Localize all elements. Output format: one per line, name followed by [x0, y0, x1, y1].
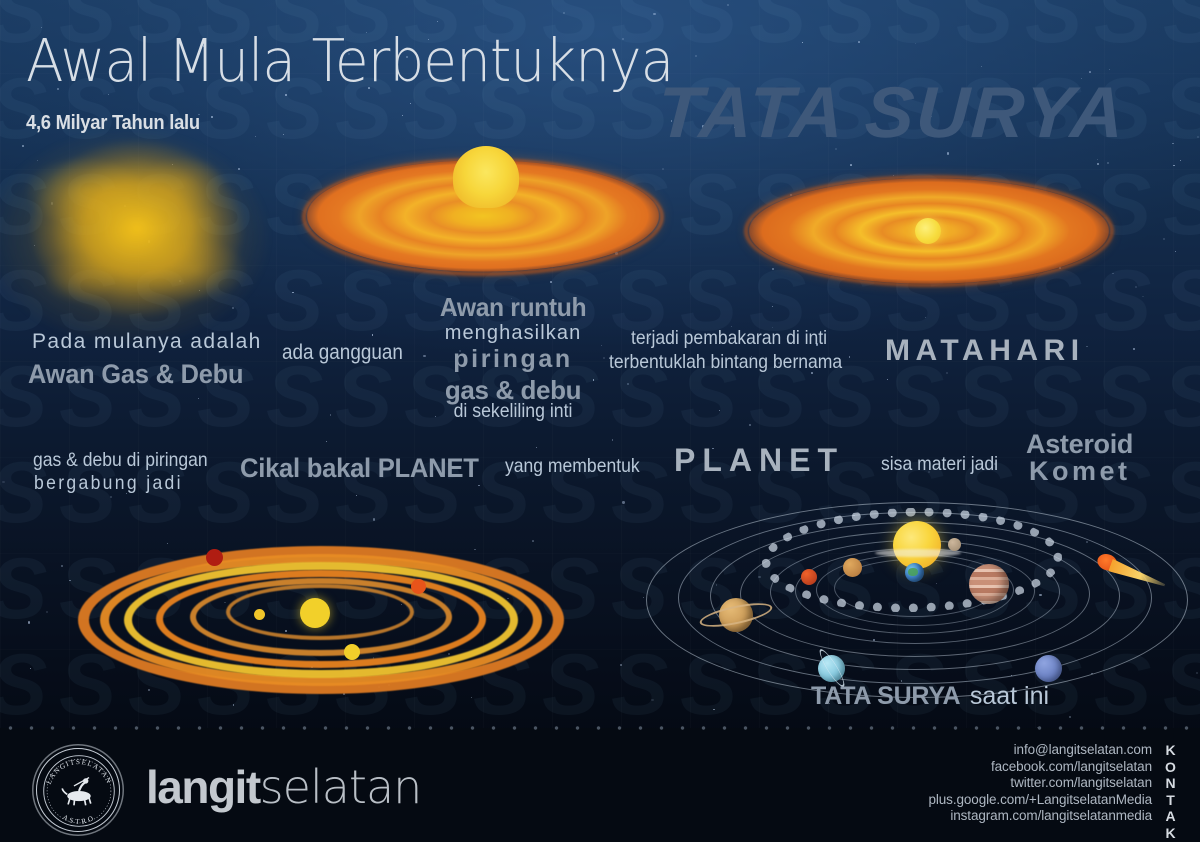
stage3-caption-line2: menghasilkan — [418, 322, 608, 345]
stage7-caption: sisa materi jadi — [881, 453, 998, 476]
protoplanetary-disk-late — [748, 178, 1110, 290]
contact-twitter[interactable]: twitter.com/langitselatan — [928, 775, 1152, 792]
stage4-caption-line2: terbentuklah bintang bernama — [609, 351, 842, 374]
watermark-s-glyph: S — [818, 0, 875, 56]
stage5-caption-line2: bergabung jadi — [34, 472, 183, 495]
star — [915, 43, 916, 44]
gas-cloud-nebula — [0, 118, 282, 348]
watermark-s-glyph: S — [1163, 354, 1200, 440]
star — [1163, 238, 1165, 240]
star — [1086, 346, 1087, 347]
page-title-accent: TATA SURYA — [656, 72, 1128, 154]
stage3-caption-line1: Awan runtuh — [423, 292, 604, 323]
star — [981, 66, 982, 67]
star — [326, 441, 327, 442]
star — [110, 496, 112, 498]
jupiter-body — [969, 564, 1009, 604]
centaur-figure-icon — [62, 778, 91, 806]
watermark-s-glyph: S — [887, 0, 944, 56]
kontak-vertical-label: KONTAK — [1164, 742, 1178, 842]
star — [719, 410, 720, 411]
star — [2, 481, 4, 483]
watermark-s-glyph: S — [0, 642, 47, 728]
page-title: Awal Mula Terbentuknya — [26, 26, 673, 95]
protosun-center — [300, 598, 330, 628]
solar-system-diagram — [640, 498, 1200, 710]
contact-facebook[interactable]: facebook.com/langitselatan — [928, 759, 1152, 776]
young-sun-core — [915, 218, 941, 244]
star — [28, 621, 30, 623]
stage6-caption: yang membentuk — [505, 455, 640, 478]
star — [536, 447, 537, 448]
brand-wordmark: langitselatan — [146, 760, 421, 814]
protostar-core-bulge — [453, 146, 519, 208]
sun-body — [893, 521, 941, 569]
star — [1142, 296, 1143, 297]
star — [653, 13, 655, 15]
watermark-s-glyph: S — [1025, 0, 1082, 56]
page-subtitle: 4,6 Milyar Tahun lalu — [26, 112, 200, 135]
stage7-label-komet: Komet — [1029, 456, 1131, 487]
star — [330, 414, 331, 415]
contact-list: info@langitselatan.com facebook.com/lang… — [928, 742, 1152, 825]
solar-system-label: TATA SURYA saat ini — [811, 682, 1049, 711]
planetesimal-orange — [411, 579, 426, 594]
watermark-s-glyph: S — [1094, 0, 1151, 56]
star — [402, 115, 403, 116]
planetesimal-red — [206, 549, 223, 566]
star — [1173, 165, 1174, 166]
stage4-caption-line1: terjadi pembakaran di inti — [631, 327, 827, 350]
watermark-s-glyph: S — [680, 0, 737, 56]
infographic-poster: SSSSSSSSSSSSSSSSSSSSSSSSSSSSSSSSSSSSSSSS… — [0, 0, 1200, 842]
neptune-body — [1035, 655, 1062, 682]
contact-googleplus[interactable]: plus.google.com/+LangitselatanMedia — [928, 792, 1152, 809]
contact-instagram[interactable]: instagram.com/langitselatanmedia — [928, 808, 1152, 825]
stage1-caption-line2: Awan Gas & Debu — [28, 359, 243, 390]
watermark-s-glyph: S — [1163, 258, 1200, 344]
mercury-body — [948, 538, 961, 551]
watermark-s-glyph: S — [266, 354, 323, 440]
stage2-caption: ada gangguan — [282, 341, 403, 365]
stage3-caption-line3: piringan — [418, 345, 608, 374]
contact-email[interactable]: info@langitselatan.com — [928, 742, 1152, 759]
mars-body — [801, 569, 817, 585]
brand-bold: langit — [146, 761, 260, 813]
star — [1112, 273, 1113, 274]
star — [372, 334, 373, 335]
protoplanetary-disk-early — [306, 146, 660, 282]
watermark-s-glyph: S — [1163, 66, 1200, 152]
star — [1133, 348, 1135, 350]
stage4-label-matahari: MATAHARI — [885, 334, 1085, 368]
stage3-caption-line5: di sekeliling inti — [425, 401, 602, 423]
star — [622, 501, 624, 503]
star — [437, 21, 438, 22]
star — [46, 611, 48, 613]
forming-planet-system — [78, 520, 564, 700]
star — [802, 42, 803, 43]
star — [1135, 286, 1137, 288]
solar-system-label-light: saat ini — [970, 682, 1049, 710]
solar-system-label-bold: TATA SURYA — [811, 682, 960, 710]
watermark-s-glyph: S — [1094, 354, 1151, 440]
earth-land-icon — [908, 568, 918, 576]
watermark-s-glyph: S — [680, 162, 737, 248]
svg-text:LANGITSELATAN: LANGITSELATAN — [45, 758, 114, 785]
stage6-label-planet: PLANET — [674, 442, 844, 479]
stage5-label-cikal-bakal-planet: Cikal bakal PLANET — [240, 453, 479, 484]
stage5-caption-line1: gas & debu di piringan — [33, 449, 208, 472]
star — [727, 4, 729, 6]
watermark-s-glyph: S — [1163, 162, 1200, 248]
seal-icon: LANGITSELATAN ASTRO — [37, 749, 121, 833]
brand-light: selatan — [260, 760, 422, 814]
watermark-s-glyph: S — [956, 0, 1013, 56]
watermark-s-glyph: S — [749, 0, 806, 56]
star — [946, 372, 948, 374]
venus-body — [843, 558, 862, 577]
star — [69, 580, 70, 581]
watermark-s-glyph: S — [335, 354, 392, 440]
star — [30, 668, 31, 669]
watermark-s-glyph: S — [1163, 0, 1200, 56]
watermark-s-glyph: S — [0, 546, 47, 632]
star — [925, 317, 926, 318]
stage1-caption-line1: Pada mulanya adalah — [32, 330, 262, 354]
sun-ring-overlay — [875, 549, 961, 557]
planetesimal-yellow — [344, 644, 360, 660]
star — [292, 292, 293, 293]
planetesimal-small — [254, 609, 265, 620]
langitselatan-seal-logo: LANGITSELATAN ASTRO — [36, 748, 120, 832]
footer-divider — [0, 726, 1200, 730]
